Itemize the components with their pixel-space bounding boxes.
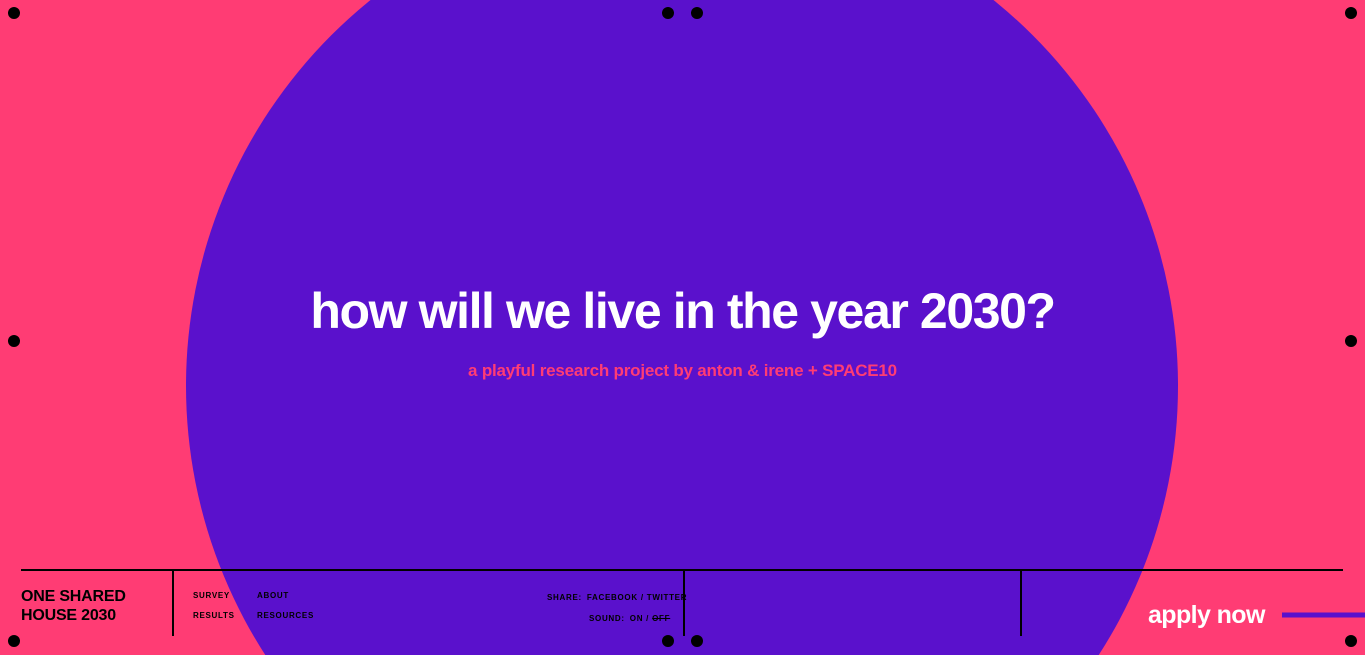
page-title: how will we live in the year 2030? [0, 286, 1365, 336]
hero-copy: how will we live in the year 2030? a pla… [0, 286, 1365, 381]
nav-item-survey[interactable]: SURVEY [193, 591, 257, 600]
dot-top-center-left [662, 7, 674, 19]
footer-divider-mid [683, 570, 685, 636]
footer-divider-brand [172, 570, 174, 636]
nav-item-resources[interactable]: RESOURCES [257, 611, 314, 620]
page-root: how will we live in the year 2030? a pla… [0, 0, 1365, 655]
nav-item-results[interactable]: RESULTS [193, 611, 257, 620]
dot-bottom-center-left [662, 635, 674, 647]
sound-separator: / [646, 614, 649, 623]
footer-divider-cta [1020, 570, 1022, 636]
dot-top-left [8, 7, 20, 19]
share-label: SHARE: [547, 593, 582, 602]
brand-line-2: HOUSE 2030 [21, 607, 126, 626]
apply-now-label: apply now [1148, 601, 1265, 630]
nav-item-about[interactable]: ABOUT [257, 591, 314, 600]
dot-top-center-right [691, 7, 703, 19]
share-twitter-link[interactable]: TWITTER [647, 593, 687, 602]
page-subtitle: a playful research project by anton & ir… [0, 361, 1365, 381]
sound-label: SOUND: [589, 614, 625, 623]
sound-off-button[interactable]: OFF [652, 614, 670, 623]
footer-horizontal-rule [21, 569, 1343, 571]
brand-wordmark[interactable]: ONE SHARED HOUSE 2030 [21, 588, 126, 626]
dot-bottom-left [8, 635, 20, 647]
arrow-right-icon [1282, 598, 1365, 632]
dot-top-right [1345, 7, 1357, 19]
footer-nav: SURVEY ABOUT RESULTS RESOURCES [193, 591, 314, 620]
share-row: SHARE:FACEBOOK/TWITTER [547, 593, 687, 602]
sound-on-button[interactable]: ON [630, 614, 643, 623]
share-separator: / [641, 593, 644, 602]
dot-bottom-center-right [691, 635, 703, 647]
share-facebook-link[interactable]: FACEBOOK [587, 593, 638, 602]
sound-row: SOUND:ON/OFF [589, 614, 670, 623]
dot-bottom-right [1345, 635, 1357, 647]
brand-line-1: ONE SHARED [21, 588, 126, 607]
apply-now-button[interactable]: apply now [1148, 598, 1365, 632]
